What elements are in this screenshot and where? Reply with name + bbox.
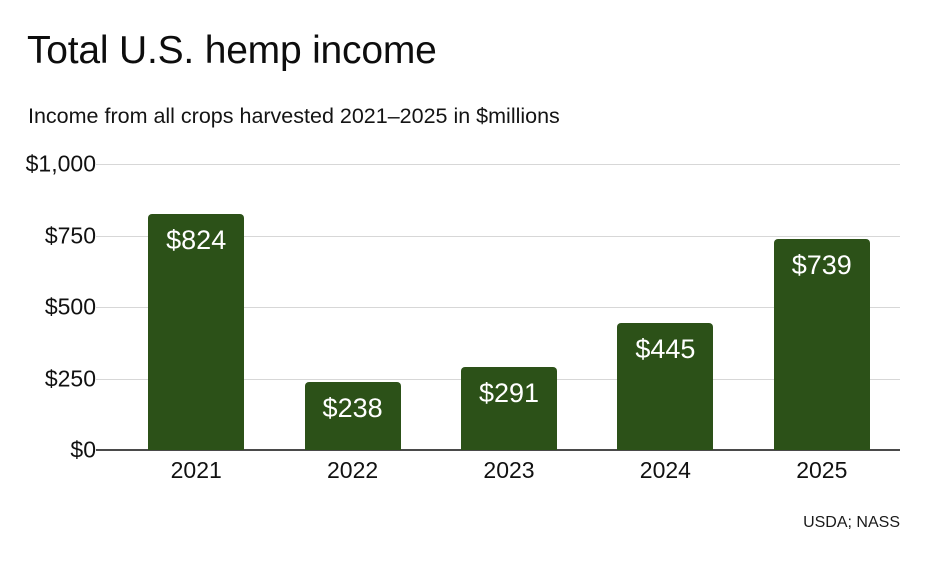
- y-axis-tick-mark: [96, 449, 118, 451]
- bar-rect[interactable]: [774, 239, 870, 450]
- bar-2022[interactable]: $238: [305, 382, 401, 450]
- bar-2023[interactable]: $291: [461, 367, 557, 450]
- y-axis-tick-label: $250: [0, 367, 96, 390]
- x-axis-tick-label: 2023: [431, 456, 587, 484]
- bar-2025[interactable]: $739: [774, 239, 870, 450]
- y-axis-tick-mark: [96, 236, 118, 237]
- bar-2021[interactable]: $824: [148, 214, 244, 450]
- y-axis-tick-mark: [96, 164, 118, 165]
- y-axis-labels: $0$250$500$750$1,000: [0, 164, 96, 450]
- x-axis-labels: 20212022202320242025: [118, 456, 900, 488]
- y-axis-tick-label: $1,000: [0, 153, 96, 176]
- bar-rect[interactable]: [305, 382, 401, 450]
- y-axis-tick-label: $750: [0, 224, 96, 247]
- page-title: Total U.S. hemp income: [27, 28, 437, 74]
- y-axis-tick-mark: [96, 307, 118, 308]
- bar-2024[interactable]: $445: [617, 323, 713, 450]
- x-axis-tick-label: 2022: [274, 456, 430, 484]
- plot-area: $824$238$291$445$739: [118, 164, 900, 450]
- source-credit: USDA; NASS: [803, 513, 900, 533]
- y-axis-tick-label: $500: [0, 296, 96, 319]
- chart-container: Total U.S. hemp income Income from all c…: [0, 0, 929, 563]
- bar-rect[interactable]: [617, 323, 713, 450]
- bar-rect[interactable]: [461, 367, 557, 450]
- x-axis-tick-label: 2024: [587, 456, 743, 484]
- chart-subtitle: Income from all crops harvested 2021–202…: [28, 103, 560, 129]
- bar-series: $824$238$291$445$739: [118, 164, 900, 450]
- bar-rect[interactable]: [148, 214, 244, 450]
- y-axis-tick-mark: [96, 379, 118, 380]
- y-axis-tick-label: $0: [0, 439, 96, 462]
- x-axis-tick-label: 2021: [118, 456, 274, 484]
- x-axis-tick-label: 2025: [744, 456, 900, 484]
